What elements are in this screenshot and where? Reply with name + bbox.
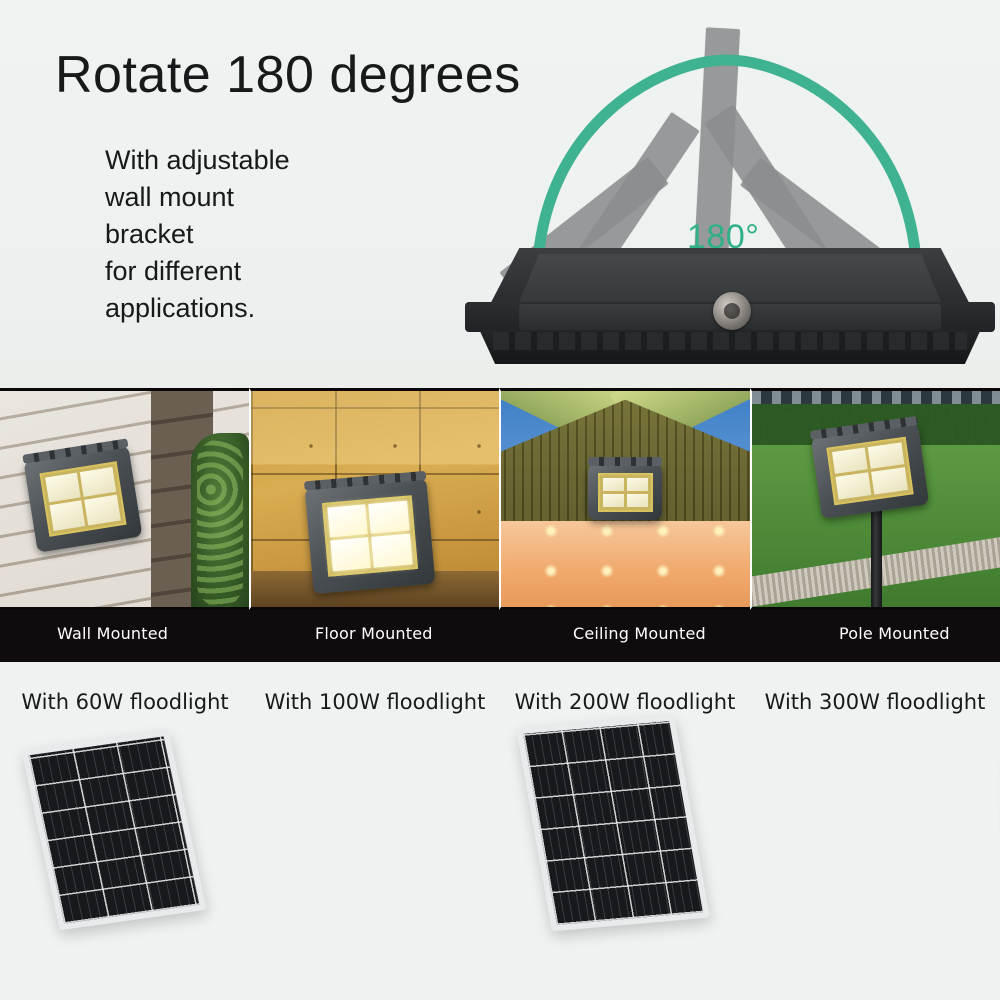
panel-variant-100w: With 100W floodlight bbox=[250, 662, 500, 1000]
photo-floor-mounted bbox=[249, 388, 500, 610]
photo-ceiling-mounted bbox=[499, 388, 750, 610]
hero-description: With adjustable wall mount bracket for d… bbox=[105, 142, 290, 327]
hero-description-line-5: applications. bbox=[105, 290, 290, 327]
label-wall-mounted: Wall Mounted bbox=[57, 624, 168, 643]
led-lens-grid bbox=[598, 473, 653, 512]
label-floor-mounted: Floor Mounted bbox=[315, 624, 433, 643]
hero-description-line-1: With adjustable bbox=[105, 142, 290, 179]
floodlight-thumbnail bbox=[23, 445, 142, 552]
panel-variant-300w: With 300W floodlight bbox=[750, 662, 1000, 1000]
hero-description-line-3: bracket bbox=[105, 216, 290, 253]
illuminated-patio bbox=[501, 521, 750, 607]
led-lens-grid bbox=[321, 495, 417, 577]
shrub bbox=[191, 433, 249, 610]
label-pole-mounted: Pole Mounted bbox=[839, 624, 950, 643]
floodlight-mount-tabs bbox=[588, 457, 662, 466]
page-title: Rotate 180 degrees bbox=[55, 45, 521, 105]
floodlight-thumbnail bbox=[588, 464, 662, 520]
hero-description-line-2: wall mount bbox=[105, 179, 290, 216]
panel-caption-60w: With 60W floodlight bbox=[0, 690, 250, 714]
infographic-page: Rotate 180 degrees With adjustable wall … bbox=[0, 0, 1000, 1000]
floodlight-body-illustration bbox=[465, 244, 995, 372]
rotation-diagram: 180° bbox=[455, 10, 1000, 388]
mounting-label-bar: Wall Mounted Floor Mounted Ceiling Mount… bbox=[0, 610, 1000, 662]
led-lens-grid bbox=[827, 437, 914, 505]
hero-description-line-4: for different bbox=[105, 253, 290, 290]
panel-variant-200w: With 200W floodlight bbox=[500, 662, 750, 1000]
panel-variant-60w: With 60W floodlight bbox=[0, 662, 250, 1000]
floodlight-thumbnail bbox=[811, 423, 929, 519]
panel-caption-100w: With 100W floodlight bbox=[250, 690, 500, 714]
mounting-photo-strip bbox=[0, 388, 1000, 610]
pivot-knob-icon bbox=[713, 292, 751, 330]
floodlight-thumbnail bbox=[304, 478, 435, 594]
rotation-hero-section: Rotate 180 degrees With adjustable wall … bbox=[0, 0, 1000, 388]
solar-panel-60w-illustration bbox=[21, 730, 206, 931]
floodlight-heat-fins bbox=[493, 332, 967, 350]
led-lens-grid bbox=[39, 461, 127, 537]
label-ceiling-mounted: Ceiling Mounted bbox=[573, 624, 706, 643]
panel-caption-200w: With 200W floodlight bbox=[500, 690, 750, 714]
photo-pole-mounted bbox=[750, 388, 1000, 610]
solar-panel-variants-section: With 60W floodlight With 100W floodlight… bbox=[0, 662, 1000, 1000]
panel-caption-300w: With 300W floodlight bbox=[750, 690, 1000, 714]
photo-wall-mounted bbox=[0, 388, 249, 610]
